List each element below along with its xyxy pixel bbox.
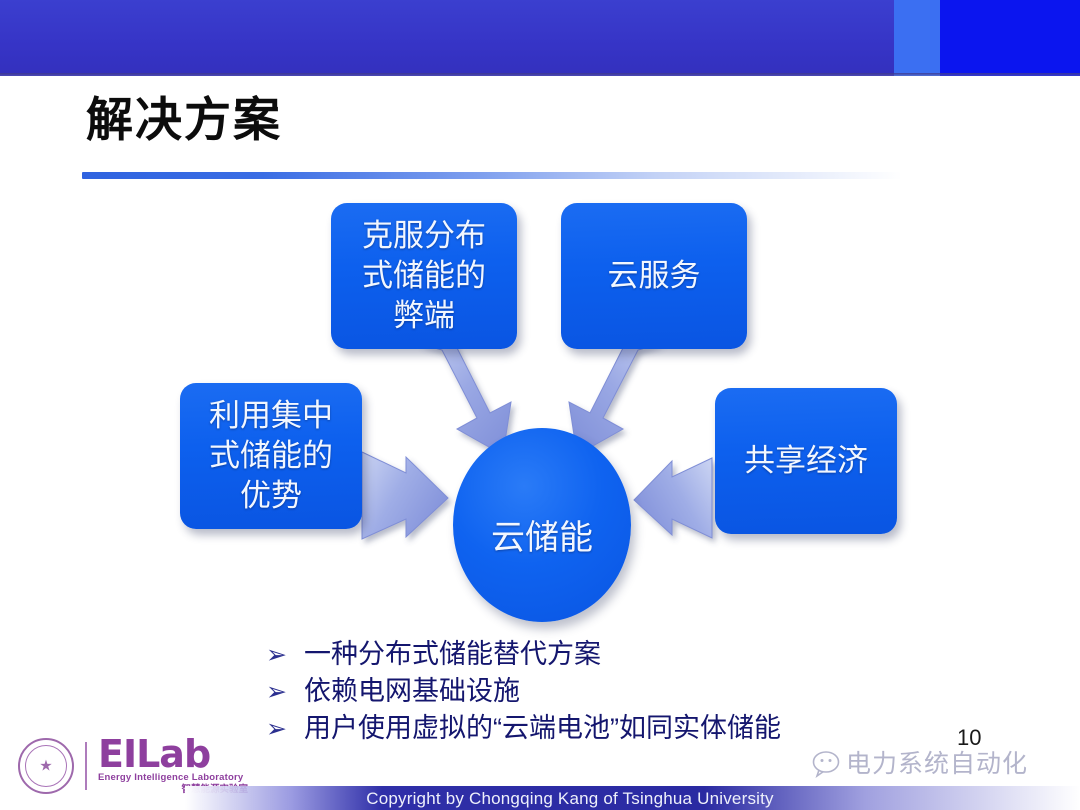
wechat-watermark: 电力系统自动化 (812, 750, 1028, 778)
tsinghua-seal-icon: ★ (18, 738, 74, 794)
arrow-down-right-icon (420, 344, 511, 455)
wechat-watermark-label: 电力系统自动化 (846, 752, 1028, 777)
wechat-bubble-icon (812, 750, 846, 778)
diagram-node-drawbacks-label: 克服分布 式储能的 弊端 (356, 216, 492, 335)
list-item-label: 用户使用虚拟的“云端电池”如同实体储能 (304, 714, 781, 743)
diagram-node-sharing-economy[interactable]: 共享经济 (715, 388, 897, 534)
diagram-node-cloud-service[interactable]: 云服务 (561, 203, 747, 349)
list-item: ➢ 依赖电网基础设施 (266, 677, 966, 706)
diagram-node-cloud-service-label: 云服务 (602, 256, 707, 296)
diagram-node-sharing-economy-label: 共享经济 (738, 441, 874, 481)
list-item-label: 依赖电网基础设施 (304, 677, 520, 706)
bullet-list: ➢ 一种分布式储能替代方案 ➢ 依赖电网基础设施 ➢ 用户使用虚拟的“云端电池”… (266, 640, 966, 751)
arrow-bullet-icon: ➢ (266, 643, 304, 668)
list-item-label: 一种分布式储能替代方案 (304, 640, 601, 669)
diagram-node-center-cloud-storage[interactable]: 云储能 (453, 428, 631, 622)
diagram-node-center-label: 云储能 (491, 492, 593, 559)
logo-divider (85, 742, 87, 790)
diagram-node-drawbacks[interactable]: 克服分布 式储能的 弊端 (331, 203, 517, 349)
diagram-node-advantages-label: 利用集中 式储能的 优势 (203, 396, 339, 515)
list-item: ➢ 一种分布式储能替代方案 (266, 640, 966, 669)
page-number: 10 (957, 725, 981, 751)
arrow-bullet-icon: ➢ (266, 680, 304, 705)
copyright-label: Copyright by Chongqing Kang of Tsinghua … (330, 789, 810, 809)
arrow-right-icon (362, 452, 448, 539)
list-item: ➢ 用户使用虚拟的“云端电池”如同实体储能 (266, 714, 966, 743)
eilab-wordmark: EILab (98, 736, 248, 772)
diagram-node-advantages[interactable]: 利用集中 式储能的 优势 (180, 383, 362, 529)
slide-canvas: 解决方案 (0, 0, 1080, 810)
seal-star-glyph: ★ (39, 759, 52, 774)
eilab-subtitle-en: Energy Intelligence Laboratory (98, 772, 248, 784)
arrow-bullet-icon: ➢ (266, 717, 304, 742)
arrow-left-icon (634, 458, 712, 538)
